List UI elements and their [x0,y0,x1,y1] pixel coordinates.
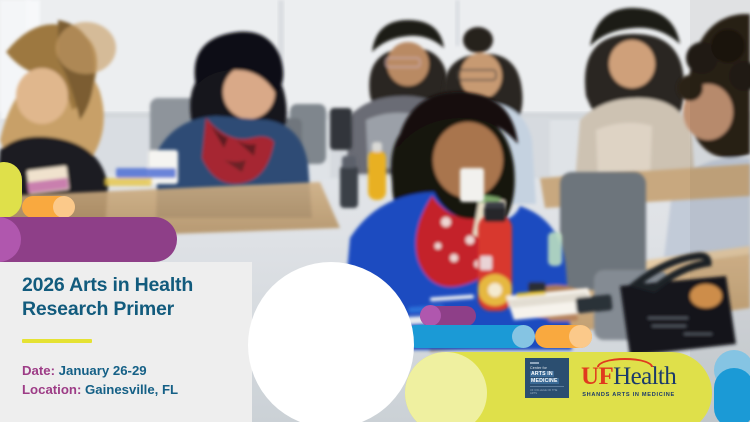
date-label: Date: [22,363,55,378]
uf-health-tagline: SHANDS ARTS IN MEDICINE [581,392,676,398]
event-title: 2026 Arts in Health Research Primer [22,274,262,322]
decor-dot-blue-bottom-right [512,325,535,348]
center-for-arts-in-medicine-logo: Center for ARTS IN MEDICINE UF COLLEGE O… [525,358,569,398]
decor-dot-magenta-bottom-right [420,305,441,326]
title-divider-rule [22,339,92,343]
decor-pill-yellow-top-left [0,162,22,218]
event-promo-card: 2026 Arts in Health Research Primer Date… [0,0,750,422]
info-panel-content: 2026 Arts in Health Research Primer Date… [22,274,262,399]
logo-lockup: Center for ARTS IN MEDICINE UF COLLEGE O… [525,358,676,398]
cam-logo-main-line-2: MEDICINE [530,378,564,385]
event-date-row: Date: January 26-29 [22,361,262,380]
uf-health-health-text: Health [613,363,676,390]
uf-health-logo: UFHealth SHANDS ARTS IN MEDICINE [581,358,676,398]
decor-pill-purple-top-left [0,217,177,262]
uf-health-swoosh-icon [597,358,653,367]
decor-pill-blue-right-edge [714,368,750,422]
event-meta: Date: January 26-29 Location: Gainesvill… [22,361,262,399]
decor-dot-orange-bottom-right [569,325,592,348]
uf-health-wordmark: UFHealth [581,365,676,390]
cam-logo-footer: UF COLLEGE OF THE ARTS [530,386,564,395]
cam-logo-main-line-1: ARTS IN [530,371,564,378]
info-panel-circle [248,262,414,422]
cam-logo-text-block: Center for ARTS IN MEDICINE [530,365,564,385]
location-label: Location: [22,382,81,397]
date-value: January 26-29 [55,363,147,378]
decor-dot-orange-top-left [53,196,75,218]
event-location-row: Location: Gainesville, FL [22,380,262,399]
cam-logo-tick [530,362,539,364]
location-value: Gainesville, FL [81,382,178,397]
uf-health-uf-text: UF [581,363,613,390]
